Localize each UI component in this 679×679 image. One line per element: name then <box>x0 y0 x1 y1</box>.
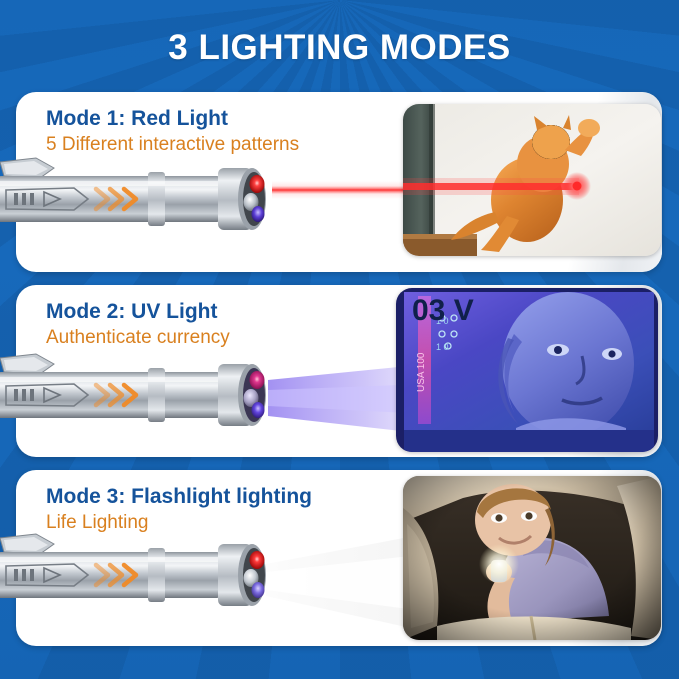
flashlight-device-1 <box>0 152 286 236</box>
mode-3-text-block: Mode 3: Flashlight lighting Life Lightin… <box>46 484 312 535</box>
girl-reading-flashlight-photo <box>403 476 661 640</box>
mode-1-subtitle: 5 Different interactive patterns <box>46 132 299 157</box>
mode-2-title: Mode 2: UV Light <box>46 299 230 325</box>
infographic-canvas: 3 LIGHTING MODES Mode 1: Red Light 5 Dif… <box>0 0 679 679</box>
mode-3-title: Mode 3: Flashlight lighting <box>46 484 312 510</box>
flashlight-device-3 <box>0 528 286 612</box>
uv-photo-serial: 03 V <box>412 294 474 327</box>
uv-currency-photo: USA 100 1 0 1 0 03 V <box>396 288 658 452</box>
cat-chasing-laser-photo <box>403 104 661 256</box>
svg-text:USA 100: USA 100 <box>416 352 427 392</box>
flashlight-device-2 <box>0 348 286 432</box>
mode-1-title: Mode 1: Red Light <box>46 106 299 132</box>
page-title: 3 LIGHTING MODES <box>0 28 679 68</box>
mode-2-subtitle: Authenticate currency <box>46 325 230 350</box>
mode-2-text-block: Mode 2: UV Light Authenticate currency <box>46 299 230 350</box>
mode-1-text-block: Mode 1: Red Light 5 Different interactiv… <box>46 106 299 157</box>
svg-text:1 0: 1 0 <box>436 342 449 352</box>
mode-3-subtitle: Life Lighting <box>46 510 312 535</box>
